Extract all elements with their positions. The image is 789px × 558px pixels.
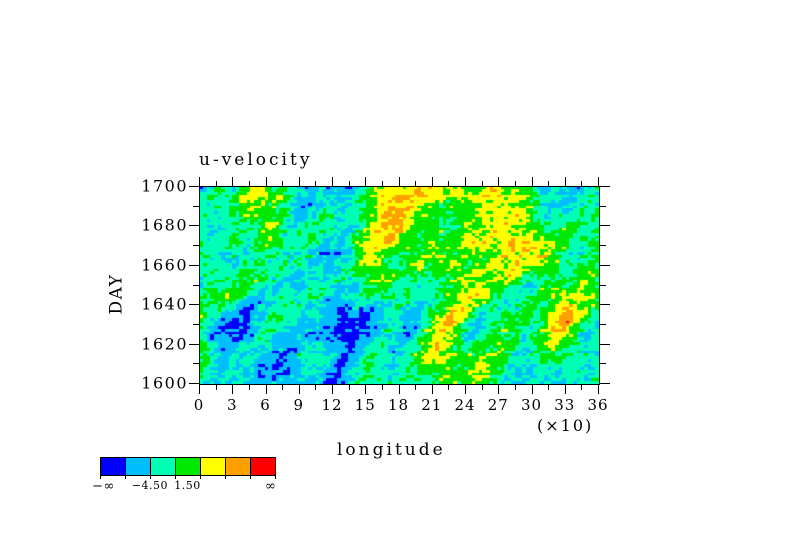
- tick-mark: [193, 363, 199, 364]
- tick-mark: [282, 181, 283, 186]
- x-tick-label: 21: [421, 396, 442, 414]
- tick-mark: [216, 181, 217, 186]
- tick-mark: [232, 385, 233, 394]
- tick-mark: [189, 225, 199, 226]
- colorbar-swatch: [175, 458, 200, 475]
- tick-mark: [515, 385, 516, 390]
- x-tick-label: 0: [194, 396, 205, 414]
- tick-mark: [415, 385, 416, 390]
- heatmap-field: [200, 187, 599, 384]
- tick-mark: [399, 177, 400, 186]
- tick-mark: [266, 385, 267, 394]
- y-tick-label: 1600: [110, 374, 188, 393]
- tick-mark: [365, 177, 366, 186]
- tick-mark: [189, 304, 199, 305]
- tick-mark: [349, 181, 350, 186]
- colorbar-swatch: [200, 458, 225, 475]
- tick-mark: [600, 206, 606, 207]
- tick-mark: [448, 385, 449, 390]
- tick-mark: [216, 385, 217, 390]
- tick-mark: [600, 285, 606, 286]
- x-tick-label: 30: [521, 396, 542, 414]
- tick-mark: [532, 385, 533, 394]
- tick-mark: [598, 385, 599, 394]
- tick-mark: [498, 385, 499, 394]
- tick-mark: [565, 385, 566, 394]
- tick-mark: [315, 181, 316, 186]
- x-tick-label: 3: [227, 396, 238, 414]
- heatmap-plot-area: [199, 186, 600, 385]
- tick-mark: [565, 177, 566, 186]
- tick-mark: [598, 177, 599, 186]
- tick-mark: [249, 385, 250, 390]
- tick-mark: [332, 177, 333, 186]
- tick-mark: [189, 383, 199, 384]
- tick-mark: [399, 385, 400, 394]
- y-axis-label: DAY: [106, 274, 126, 315]
- tick-mark: [600, 225, 610, 226]
- colorbar-tick: [125, 474, 126, 479]
- tick-mark: [532, 177, 533, 186]
- tick-mark: [249, 181, 250, 186]
- tick-mark: [515, 181, 516, 186]
- x-axis-label: longitude: [337, 440, 446, 460]
- tick-mark: [581, 385, 582, 390]
- tick-mark: [600, 344, 610, 345]
- tick-mark: [382, 181, 383, 186]
- colorbar-label: −∞: [92, 479, 115, 494]
- colorbar-swatch: [225, 458, 250, 475]
- tick-mark: [600, 186, 610, 187]
- tick-mark: [232, 177, 233, 186]
- tick-mark: [548, 181, 549, 186]
- x-tick-label: 27: [488, 396, 509, 414]
- hovmoller-figure: u-velocity 16001620164016601680170003691…: [0, 0, 789, 558]
- x-tick-label: 33: [554, 396, 575, 414]
- tick-mark: [349, 385, 350, 390]
- x-tick-label: 12: [321, 396, 342, 414]
- tick-mark: [600, 245, 606, 246]
- y-tick-label: 1700: [110, 177, 188, 196]
- tick-mark: [365, 385, 366, 394]
- tick-mark: [282, 385, 283, 390]
- colorbar-swatch: [150, 458, 175, 475]
- tick-mark: [189, 186, 199, 187]
- tick-mark: [193, 206, 199, 207]
- colorbar-label: ∞: [265, 479, 276, 494]
- tick-mark: [382, 385, 383, 390]
- y-tick-label: 1660: [110, 255, 188, 274]
- tick-mark: [465, 177, 466, 186]
- x-tick-label: 36: [587, 396, 608, 414]
- tick-mark: [299, 177, 300, 186]
- tick-mark: [600, 304, 610, 305]
- x-tick-label: 6: [260, 396, 271, 414]
- tick-mark: [548, 385, 549, 390]
- tick-mark: [193, 245, 199, 246]
- tick-mark: [465, 385, 466, 394]
- tick-mark: [332, 385, 333, 394]
- tick-mark: [498, 177, 499, 186]
- y-tick-label: 1680: [110, 216, 188, 235]
- tick-mark: [299, 385, 300, 394]
- x-tick-label: 18: [388, 396, 409, 414]
- x-axis-multiplier-label: (×10): [537, 416, 593, 435]
- colorbar-label: 1.50: [174, 479, 201, 492]
- x-tick-label: 15: [355, 396, 376, 414]
- x-tick-label: 9: [293, 396, 304, 414]
- tick-mark: [448, 181, 449, 186]
- colorbar-tick: [225, 474, 226, 479]
- tick-mark: [432, 177, 433, 186]
- tick-mark: [266, 177, 267, 186]
- x-tick-label: 24: [454, 396, 475, 414]
- colorbar-swatch: [101, 458, 125, 475]
- tick-mark: [482, 181, 483, 186]
- tick-mark: [189, 344, 199, 345]
- tick-mark: [193, 285, 199, 286]
- tick-mark: [315, 385, 316, 390]
- tick-mark: [482, 385, 483, 390]
- colorbar-swatch: [250, 458, 275, 475]
- tick-mark: [199, 177, 200, 186]
- tick-mark: [432, 385, 433, 394]
- tick-mark: [193, 324, 199, 325]
- colorbar-tick: [250, 474, 251, 479]
- y-tick-label: 1620: [110, 334, 188, 353]
- tick-mark: [189, 265, 199, 266]
- tick-mark: [600, 363, 606, 364]
- colorbar-swatch: [125, 458, 150, 475]
- plot-title: u-velocity: [199, 150, 312, 170]
- tick-mark: [415, 181, 416, 186]
- tick-mark: [600, 265, 610, 266]
- tick-mark: [581, 181, 582, 186]
- tick-mark: [600, 383, 610, 384]
- colorbar-label: −4.50: [132, 479, 168, 492]
- tick-mark: [600, 324, 606, 325]
- tick-mark: [199, 385, 200, 394]
